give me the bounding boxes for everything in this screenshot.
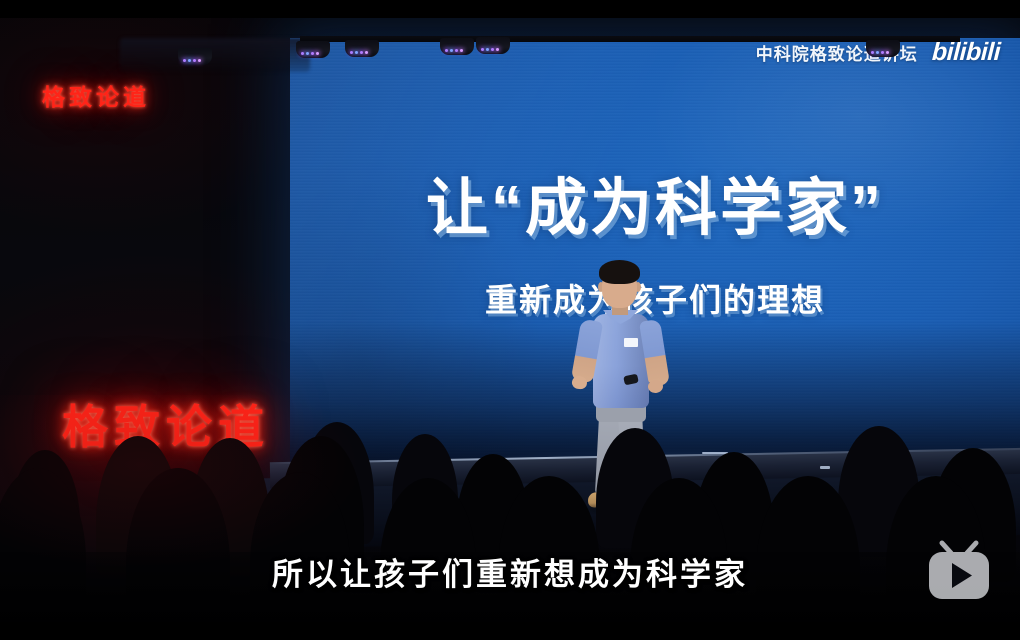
- bilibili-tv-icon: [926, 540, 992, 602]
- slide-title: 让“成为科学家”: [290, 176, 1020, 242]
- light-leds: [481, 48, 499, 51]
- light-leds: [183, 59, 201, 62]
- light-leds: [350, 51, 368, 54]
- lighting-truss: [120, 38, 310, 72]
- stage-light: [440, 38, 474, 55]
- stage-light: [178, 48, 212, 65]
- speaker-hand-right: [647, 379, 663, 393]
- light-leds: [301, 52, 319, 55]
- audience-silhouettes: [0, 395, 1020, 640]
- bilibili-wordmark: bilibili: [931, 38, 1001, 67]
- stage-light: [345, 40, 379, 57]
- stage-light: [476, 37, 510, 54]
- light-leds: [871, 51, 889, 54]
- speaker-badge: [624, 338, 638, 347]
- light-bar: [300, 36, 960, 42]
- video-caption: 所以让孩子们重新想成为科学家: [0, 549, 1020, 594]
- stage-light: [296, 41, 330, 58]
- light-leds: [445, 49, 463, 52]
- letterbox-bottom: [0, 622, 1020, 640]
- stage-light: [866, 40, 900, 57]
- speaker-hair: [599, 260, 640, 284]
- video-frame: 中科院格致论道讲坛 bilibili 让“成为科学家” 重新成为孩子们的理想 格…: [0, 0, 1020, 640]
- letterbox-top: [0, 0, 1020, 18]
- neon-sign-top: 格致论道: [42, 78, 150, 112]
